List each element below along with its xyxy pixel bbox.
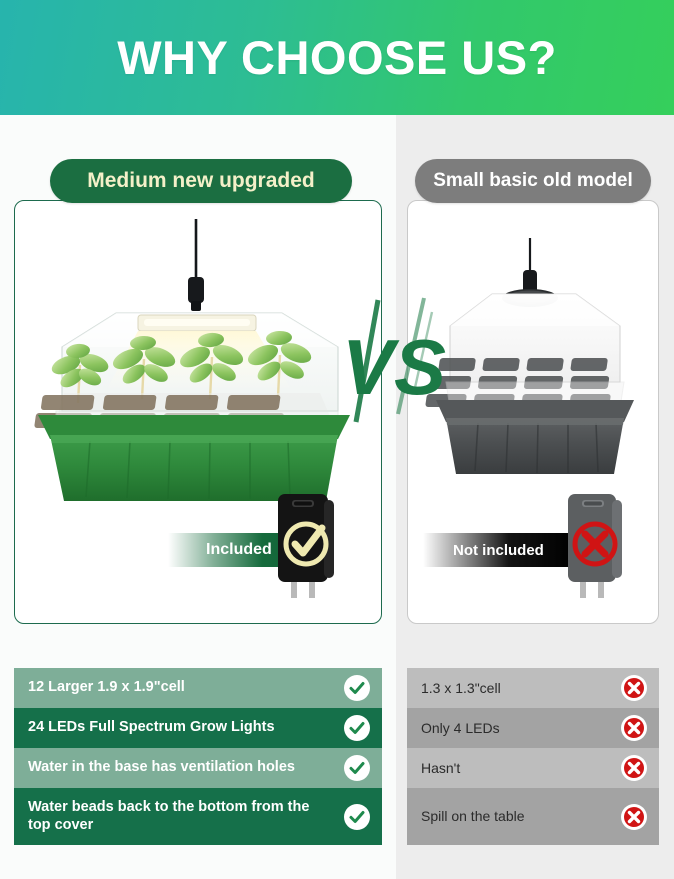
feature-text: 24 LEDs Full Spectrum Grow Lights — [28, 719, 275, 736]
feature-row: 1.3 x 1.3"cell — [407, 668, 659, 708]
vs-divider: VS — [332, 296, 452, 426]
included-badge-right: Not included — [423, 533, 571, 567]
feature-row: Spill on the table — [407, 788, 659, 845]
vs-text: VS — [342, 323, 446, 411]
feature-list-left: 12 Larger 1.9 x 1.9"cell 24 LEDs Full Sp… — [14, 668, 382, 845]
check-icon — [344, 804, 370, 830]
product-image-right — [420, 230, 650, 520]
feature-text: Only 4 LEDs — [421, 720, 500, 737]
included-label: Included — [206, 541, 272, 559]
power-adapter-not-included — [562, 492, 626, 610]
feature-row: Water beads back to the bottom from the … — [14, 788, 382, 845]
feature-text: Water beads back to the bottom from the … — [28, 799, 328, 834]
x-icon — [621, 755, 647, 781]
feature-row: Water in the base has ventilation holes — [14, 748, 382, 788]
feature-list-right: 1.3 x 1.3"cell Only 4 LEDs Hasn't — [407, 668, 659, 845]
product-label-right-text: Small basic old model — [433, 170, 633, 192]
feature-text: 12 Larger 1.9 x 1.9"cell — [28, 679, 185, 696]
x-icon — [621, 715, 647, 741]
product-label-left: Medium new upgraded — [50, 159, 352, 203]
x-icon — [621, 675, 647, 701]
header-banner: WHY CHOOSE US? — [0, 0, 674, 115]
product-image-left — [20, 215, 372, 515]
feature-text: Spill on the table — [421, 808, 525, 825]
feature-text: Water in the base has ventilation holes — [28, 759, 295, 776]
infographic-page: WHY CHOOSE US? — [0, 0, 674, 879]
check-icon — [344, 675, 370, 701]
check-icon — [344, 755, 370, 781]
feature-text: 1.3 x 1.3"cell — [421, 680, 501, 697]
page-title: WHY CHOOSE US? — [117, 30, 557, 85]
feature-row: 24 LEDs Full Spectrum Grow Lights — [14, 708, 382, 748]
product-label-right: Small basic old model — [415, 159, 651, 203]
feature-row: Only 4 LEDs — [407, 708, 659, 748]
not-included-label: Not included — [453, 542, 544, 559]
feature-row: 12 Larger 1.9 x 1.9"cell — [14, 668, 382, 708]
check-icon — [344, 715, 370, 741]
feature-row: Hasn't — [407, 748, 659, 788]
x-icon — [621, 804, 647, 830]
feature-text: Hasn't — [421, 760, 460, 777]
power-adapter-included — [272, 492, 338, 610]
product-label-left-text: Medium new upgraded — [87, 169, 315, 193]
